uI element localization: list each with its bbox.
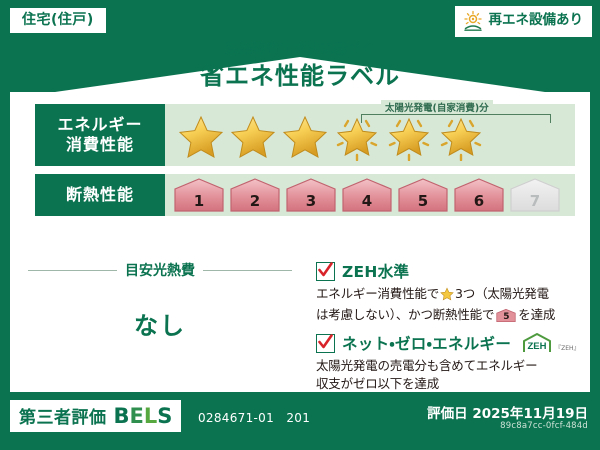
zeh-section: ZEH水準 エネルギー消費性能で3つ（太陽光発電 は考慮しない）、かつ断熱性能で… <box>310 252 590 392</box>
zeh-item-standard: ZEH水準 エネルギー消費性能で3つ（太陽光発電 は考慮しない）、かつ断熱性能で… <box>316 260 590 324</box>
energy-performance-label: 住宅(住戸) 再エネ設備あり 建築物省エネ法に基づく 省エ <box>0 0 600 450</box>
label-subtitle: 建築物省エネ法に基づく <box>0 38 600 57</box>
zeh-standard-description: エネルギー消費性能で3つ（太陽光発電 は考慮しない）、かつ断熱性能で5を達成 <box>316 285 590 324</box>
bels-letter-s: S <box>157 404 172 428</box>
housing-type-chip: 住宅(住戸) <box>10 8 106 33</box>
third-party-evaluation-label: 第三者評価 <box>19 403 107 428</box>
utility-cost-heading-text: 目安光熱費 <box>125 260 195 280</box>
performance-section: エネルギー 消費性能 太陽光発電(自家消費)分 <box>35 104 575 224</box>
lower-section: 目安光熱費 なし ZEH水準 エネ <box>10 252 590 392</box>
bels-letter-l: L <box>144 404 157 428</box>
energy-performance-label: エネルギー 消費性能 <box>35 104 165 166</box>
star-4-solar <box>333 113 381 161</box>
insulation-level-7: 7 <box>509 178 561 212</box>
renewable-badge-label: 再エネ設備あり <box>489 14 584 28</box>
insulation-level-scale: 1 2 3 <box>173 178 561 212</box>
inline-house-icon: 5 <box>496 308 516 323</box>
divider-left <box>28 270 117 271</box>
inline-star-icon <box>440 287 454 306</box>
zeh-item-net-zero: ネット・ゼロ・エネルギー ZEH 『ZEH』 太陽光発電の売電分も含めてエネルギ… <box>316 332 590 393</box>
energy-performance-stars-area: 太陽光発電(自家消費)分 <box>165 104 575 166</box>
star-1 <box>177 113 225 161</box>
insulation-level-1: 1 <box>173 178 225 212</box>
star-6-solar <box>437 113 485 161</box>
zeh-net-zero-description: 太陽光発電の売電分も含めてエネルギー 収支がゼロ以下を達成 <box>316 357 590 393</box>
zeh-net-zero-checkbox[interactable] <box>316 334 335 353</box>
zeh-standard-checkbox[interactable] <box>316 262 335 281</box>
utility-cost-value: なし <box>10 306 310 341</box>
zeh-standard-name: ZEH水準 <box>342 260 409 282</box>
insulation-level-2: 2 <box>229 178 281 212</box>
insulation-level-6-number: 6 <box>453 194 505 209</box>
zeh-standard-desc-part2: は考慮しない）、かつ断熱性能で <box>316 307 494 322</box>
solar-bracket-label: 太陽光発電(自家消費)分 <box>381 100 493 114</box>
insulation-level-7-number: 7 <box>509 194 561 209</box>
evaluation-date: 評価日 2025年11月19日 <box>427 402 588 422</box>
bels-logo: BELS <box>114 404 173 428</box>
insulation-level-5-number: 5 <box>397 194 449 209</box>
insulation-level-4-number: 4 <box>341 194 393 209</box>
sun-solar-icon <box>462 10 484 32</box>
insulation-level-1-number: 1 <box>173 194 225 209</box>
zeh-net-zero-desc-part2: 収支がゼロ以下を達成 <box>316 376 439 391</box>
bels-letter-b: B <box>114 404 130 428</box>
utility-cost-heading: 目安光熱費 <box>28 260 292 280</box>
zeh-standard-desc-stars: 3つ（太陽光発電 <box>455 286 549 301</box>
svg-text:ZEH: ZEH <box>528 341 547 352</box>
insulation-level-3: 3 <box>285 178 337 212</box>
insulation-performance-label: 断熱性能 <box>35 174 165 216</box>
bels-letter-e: E <box>130 404 144 428</box>
insulation-performance-row: 断熱性能 <box>35 174 575 216</box>
renewable-equipment-badge: 再エネ設備あり <box>455 6 593 37</box>
star-2 <box>229 113 277 161</box>
zeh-standard-title-row: ZEH水準 <box>316 260 590 282</box>
insulation-levels-area: 1 2 3 <box>165 174 575 216</box>
star-5-solar <box>385 113 433 161</box>
inline-house-level: 5 <box>496 313 516 322</box>
zeh-standard-desc-part3: を達成 <box>518 307 555 322</box>
zeh-net-zero-desc-part1: 太陽光発電の売電分も含めてエネルギー <box>316 358 537 373</box>
bels-chip: 第三者評価 BELS <box>10 400 181 432</box>
insulation-level-6: 6 <box>453 178 505 212</box>
content-card: エネルギー 消費性能 太陽光発電(自家消費)分 <box>10 92 590 392</box>
zeh-logo-sub: 『ZEH』 <box>555 346 579 354</box>
label-title: 省エネ性能ラベル <box>0 56 600 91</box>
insulation-level-3-number: 3 <box>285 194 337 209</box>
star-rating <box>177 113 485 161</box>
divider-right <box>203 270 292 271</box>
footer-band: 第三者評価 BELS 0284671-01 201 評価日 2025年11月19… <box>0 392 600 450</box>
insulation-level-4: 4 <box>341 178 393 212</box>
document-uuid: 89c8a7cc-0fcf-484d <box>500 421 588 431</box>
certificate-number: 0284671-01 201 <box>198 409 310 426</box>
star-3 <box>281 113 329 161</box>
utility-cost-section: 目安光熱費 なし <box>10 252 310 392</box>
insulation-level-5: 5 <box>397 178 449 212</box>
insulation-level-2-number: 2 <box>229 194 281 209</box>
zeh-net-zero-name: ネット・ゼロ・エネルギー <box>342 332 511 354</box>
evaluation-date-value: 2025年11月19日 <box>472 406 588 422</box>
energy-performance-row: エネルギー 消費性能 太陽光発電(自家消費)分 <box>35 104 575 166</box>
evaluation-date-label: 評価日 <box>427 406 468 422</box>
zeh-net-zero-title-row: ネット・ゼロ・エネルギー ZEH 『ZEH』 <box>316 332 590 354</box>
zeh-house-logo: ZEH 『ZEH』 <box>520 332 579 354</box>
zeh-standard-desc-part1: エネルギー消費性能で <box>316 286 439 301</box>
